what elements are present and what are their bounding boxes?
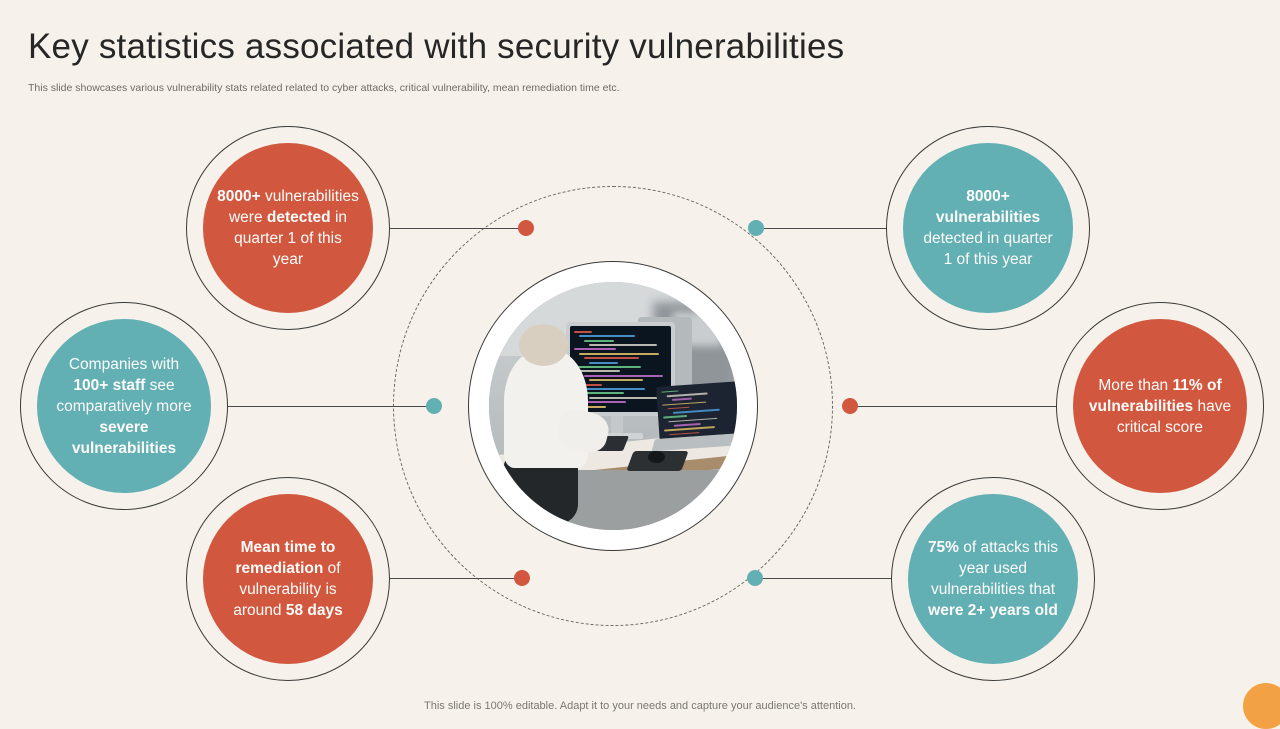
connector-dot-top-right: [748, 220, 764, 236]
connector-middle-left: [228, 406, 434, 407]
stat-text-bottom-right: 75% of attacks this year used vulnerabil…: [908, 537, 1078, 621]
stat-circle-fill-middle-left: Companies with 100+ staff see comparativ…: [37, 319, 211, 493]
stat-text-middle-left: Companies with 100+ staff see comparativ…: [37, 354, 211, 459]
stat-circle-bottom-left[interactable]: Mean time to remediation of vulnerabilit…: [186, 477, 390, 681]
page-title: Key statistics associated with security …: [28, 25, 844, 69]
center-image-frame: [468, 261, 758, 551]
connector-dot-top-left: [518, 220, 534, 236]
stat-text-top-right: 8000+ vulnerabilities detected in quarte…: [903, 186, 1073, 270]
stat-circle-fill-bottom-left: Mean time to remediation of vulnerabilit…: [203, 494, 373, 664]
connector-dot-bottom-right: [747, 570, 763, 586]
connector-top-right: [756, 228, 890, 229]
stat-circle-bottom-right[interactable]: 75% of attacks this year used vulnerabil…: [891, 477, 1095, 681]
connector-dot-middle-left: [426, 398, 442, 414]
orange-accent-circle: [1243, 683, 1280, 729]
connector-middle-right: [850, 406, 1058, 407]
connector-top-left: [390, 228, 526, 229]
stat-circle-fill-top-left: 8000+ vulnerabilities were detected in q…: [203, 143, 373, 313]
stat-circle-middle-right[interactable]: More than 11% of vulnerabilities have cr…: [1056, 302, 1264, 510]
center-photo: [489, 282, 737, 530]
footer-note: This slide is 100% editable. Adapt it to…: [0, 700, 1280, 712]
connector-bottom-right: [755, 578, 893, 579]
stat-text-top-left: 8000+ vulnerabilities were detected in q…: [203, 186, 373, 270]
connector-dot-bottom-left: [514, 570, 530, 586]
stat-circle-fill-bottom-right: 75% of attacks this year used vulnerabil…: [908, 494, 1078, 664]
stat-text-middle-right: More than 11% of vulnerabilities have cr…: [1073, 375, 1247, 438]
stat-circle-top-left[interactable]: 8000+ vulnerabilities were detected in q…: [186, 126, 390, 330]
connector-dot-middle-right: [842, 398, 858, 414]
stat-circle-fill-top-right: 8000+ vulnerabilities detected in quarte…: [903, 143, 1073, 313]
connector-bottom-left: [390, 578, 524, 579]
stat-circle-fill-middle-right: More than 11% of vulnerabilities have cr…: [1073, 319, 1247, 493]
stat-circle-top-right[interactable]: 8000+ vulnerabilities detected in quarte…: [886, 126, 1090, 330]
slide-canvas: Key statistics associated with security …: [0, 0, 1280, 720]
stat-circle-middle-left[interactable]: Companies with 100+ staff see comparativ…: [20, 302, 228, 510]
page-subtitle: This slide showcases various vulnerabili…: [28, 81, 620, 95]
stat-text-bottom-left: Mean time to remediation of vulnerabilit…: [203, 537, 373, 621]
